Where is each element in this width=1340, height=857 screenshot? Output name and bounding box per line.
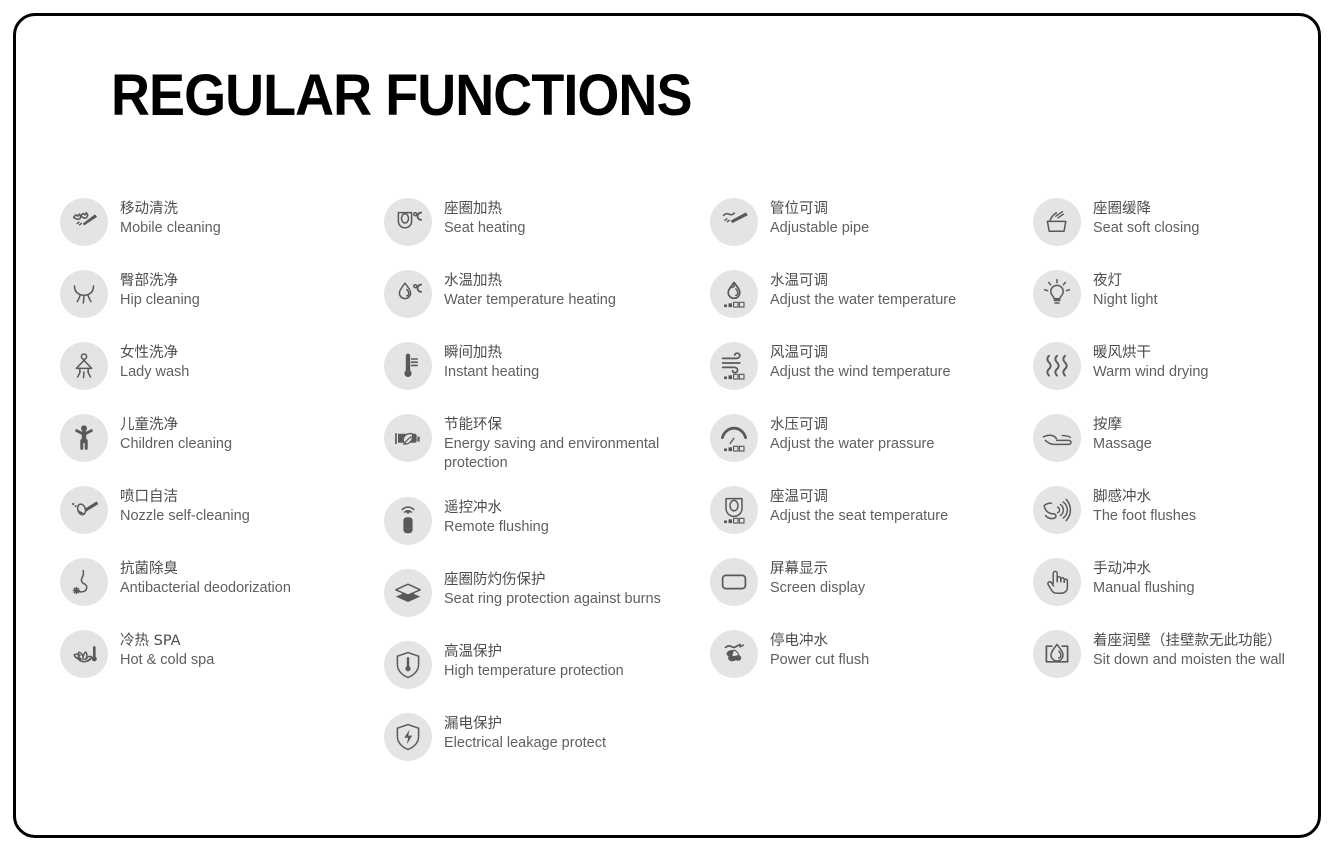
adjustable-pipe-icon: [710, 198, 758, 246]
function-name-en: Massage: [1093, 435, 1152, 454]
function-name-cn: 着座润壁（挂壁款无此功能）: [1093, 632, 1285, 651]
function-name-cn: 节能环保: [444, 416, 704, 435]
function-name-cn: 瞬间加热: [444, 344, 539, 363]
function-labels: 瞬间加热Instant heating: [444, 342, 539, 382]
function-name-en: Adjust the water temperature: [770, 291, 956, 310]
water-temperature-heating-icon: [384, 270, 432, 318]
function-name-cn: 手动冲水: [1093, 560, 1195, 579]
function-item: 座圈缓降Seat soft closing: [1033, 198, 1340, 246]
function-labels: 水温加热Water temperature heating: [444, 270, 616, 310]
nozzle-self-cleaning-icon: [60, 486, 108, 534]
function-item: 脚感冲水The foot flushes: [1033, 486, 1340, 534]
adjust-seat-temperature-icon: [710, 486, 758, 534]
antibacterial-deodorization-nose-icon: [60, 558, 108, 606]
power-cut-flush-icon: [710, 630, 758, 678]
seat-heating-icon: [384, 198, 432, 246]
screen-display-icon: [710, 558, 758, 606]
function-name-cn: 儿童洗净: [120, 416, 232, 435]
function-name-en: Energy saving and environmental protecti…: [444, 435, 704, 473]
function-item: 水温可调Adjust the water temperature: [710, 270, 1020, 318]
function-name-cn: 管位可调: [770, 200, 869, 219]
function-name-cn: 脚感冲水: [1093, 488, 1196, 507]
function-name-en: Lady wash: [120, 363, 189, 382]
instant-heating-thermometer-icon: [384, 342, 432, 390]
function-name-cn: 停电冲水: [770, 632, 869, 651]
function-item: 屏幕显示Screen display: [710, 558, 1020, 606]
function-name-cn: 座圈缓降: [1093, 200, 1199, 219]
lady-wash-icon: [60, 342, 108, 390]
function-labels: 水压可调Adjust the water prassure: [770, 414, 934, 454]
function-name-en: Adjust the wind temperature: [770, 363, 951, 382]
function-item: 冷热 SPAHot & cold spa: [60, 630, 370, 678]
functions-column-3: 座圈缓降Seat soft closing夜灯Night light暖风烘干Wa…: [1033, 198, 1340, 702]
function-name-en: Remote flushing: [444, 518, 549, 537]
function-labels: 高温保护High temperature protection: [444, 641, 624, 681]
function-name-en: Seat ring protection against burns: [444, 590, 661, 609]
function-name-cn: 水温加热: [444, 272, 616, 291]
function-name-en: Hip cleaning: [120, 291, 200, 310]
function-name-cn: 水压可调: [770, 416, 934, 435]
function-item: 座圈防灼伤保护Seat ring protection against burn…: [384, 569, 704, 617]
function-item: 夜灯Night light: [1033, 270, 1340, 318]
function-name-cn: 风温可调: [770, 344, 951, 363]
function-item: 着座润壁（挂壁款无此功能）Sit down and moisten the wa…: [1033, 630, 1340, 678]
function-item: 管位可调Adjustable pipe: [710, 198, 1020, 246]
massage-hand-icon: [1033, 414, 1081, 462]
function-name-en: Electrical leakage protect: [444, 734, 606, 753]
function-item: 风温可调Adjust the wind temperature: [710, 342, 1020, 390]
function-labels: 抗菌除臭Antibacterial deodorization: [120, 558, 291, 598]
function-item: 儿童洗净Children cleaning: [60, 414, 370, 462]
function-item: 停电冲水Power cut flush: [710, 630, 1020, 678]
mobile-cleaning-wand-icon: [60, 198, 108, 246]
function-item: 移动清洗Mobile cleaning: [60, 198, 370, 246]
function-labels: 风温可调Adjust the wind temperature: [770, 342, 951, 382]
function-item: 节能环保Energy saving and environmental prot…: [384, 414, 704, 473]
function-item: 抗菌除臭Antibacterial deodorization: [60, 558, 370, 606]
function-labels: 管位可调Adjustable pipe: [770, 198, 869, 238]
function-name-cn: 座圈防灼伤保护: [444, 571, 661, 590]
function-name-cn: 漏电保护: [444, 715, 606, 734]
function-name-en: Hot & cold spa: [120, 651, 214, 670]
function-name-en: Adjust the seat temperature: [770, 507, 948, 526]
adjust-water-temperature-icon: [710, 270, 758, 318]
function-labels: 女性洗净Lady wash: [120, 342, 189, 382]
function-name-cn: 座圈加热: [444, 200, 525, 219]
function-name-en: Manual flushing: [1093, 579, 1195, 598]
function-labels: 喷口自洁Nozzle self-cleaning: [120, 486, 250, 526]
manual-flushing-hand-icon: [1033, 558, 1081, 606]
function-name-en: Nozzle self-cleaning: [120, 507, 250, 526]
function-labels: 手动冲水Manual flushing: [1093, 558, 1195, 598]
functions-column-2: 管位可调Adjustable pipe水温可调Adjust the water …: [710, 198, 1020, 702]
energy-saving-battery-leaf-icon: [384, 414, 432, 462]
night-light-bulb-icon: [1033, 270, 1081, 318]
function-name-en: Instant heating: [444, 363, 539, 382]
function-name-cn: 座温可调: [770, 488, 948, 507]
function-item: 座圈加热Seat heating: [384, 198, 704, 246]
function-item: 喷口自洁Nozzle self-cleaning: [60, 486, 370, 534]
page-title: REGULAR FUNCTIONS: [111, 62, 692, 129]
function-name-en: Adjust the water prassure: [770, 435, 934, 454]
adjust-wind-temperature-icon: [710, 342, 758, 390]
function-item: 臀部洗净Hip cleaning: [60, 270, 370, 318]
foot-flush-icon: [1033, 486, 1081, 534]
function-name-en: Night light: [1093, 291, 1157, 310]
function-labels: 漏电保护Electrical leakage protect: [444, 713, 606, 753]
function-name-cn: 抗菌除臭: [120, 560, 291, 579]
functions-column-0: 移动清洗Mobile cleaning臀部洗净Hip cleaning女性洗净L…: [60, 198, 370, 702]
function-labels: 座圈加热Seat heating: [444, 198, 525, 238]
function-labels: 座温可调Adjust the seat temperature: [770, 486, 948, 526]
function-labels: 移动清洗Mobile cleaning: [120, 198, 221, 238]
function-labels: 停电冲水Power cut flush: [770, 630, 869, 670]
seat-ring-burn-protection-icon: [384, 569, 432, 617]
remote-flushing-icon: [384, 497, 432, 545]
function-name-cn: 冷热 SPA: [120, 632, 214, 651]
functions-column-1: 座圈加热Seat heating水温加热Water temperature he…: [384, 198, 704, 785]
hot-cold-spa-lotus-icon: [60, 630, 108, 678]
function-name-cn: 夜灯: [1093, 272, 1157, 291]
function-name-en: Seat soft closing: [1093, 219, 1199, 238]
seat-soft-closing-icon: [1033, 198, 1081, 246]
function-labels: 冷热 SPAHot & cold spa: [120, 630, 214, 670]
function-labels: 按摩Massage: [1093, 414, 1152, 454]
function-name-cn: 女性洗净: [120, 344, 189, 363]
function-labels: 遥控冲水Remote flushing: [444, 497, 549, 537]
function-labels: 臀部洗净Hip cleaning: [120, 270, 200, 310]
electrical-leakage-protect-shield-icon: [384, 713, 432, 761]
function-name-en: Adjustable pipe: [770, 219, 869, 238]
function-item: 水温加热Water temperature heating: [384, 270, 704, 318]
function-name-en: Seat heating: [444, 219, 525, 238]
function-name-cn: 喷口自洁: [120, 488, 250, 507]
function-labels: 座圈防灼伤保护Seat ring protection against burn…: [444, 569, 661, 609]
poster-frame: REGULAR FUNCTIONS 移动清洗Mobile cleaning臀部洗…: [13, 13, 1321, 838]
function-item: 座温可调Adjust the seat temperature: [710, 486, 1020, 534]
function-name-cn: 屏幕显示: [770, 560, 865, 579]
function-name-cn: 按摩: [1093, 416, 1152, 435]
children-cleaning-icon: [60, 414, 108, 462]
function-name-en: Sit down and moisten the wall: [1093, 651, 1285, 670]
function-name-en: Screen display: [770, 579, 865, 598]
function-labels: 儿童洗净Children cleaning: [120, 414, 232, 454]
high-temperature-protection-shield-icon: [384, 641, 432, 689]
function-name-en: Warm wind drying: [1093, 363, 1209, 382]
function-labels: 夜灯Night light: [1093, 270, 1157, 310]
function-name-en: Antibacterial deodorization: [120, 579, 291, 598]
function-labels: 座圈缓降Seat soft closing: [1093, 198, 1199, 238]
function-name-cn: 移动清洗: [120, 200, 221, 219]
function-name-en: Children cleaning: [120, 435, 232, 454]
function-name-cn: 臀部洗净: [120, 272, 200, 291]
function-name-en: Water temperature heating: [444, 291, 616, 310]
hip-cleaning-icon: [60, 270, 108, 318]
function-name-en: High temperature protection: [444, 662, 624, 681]
warm-wind-drying-icon: [1033, 342, 1081, 390]
function-name-cn: 遥控冲水: [444, 499, 549, 518]
function-item: 遥控冲水Remote flushing: [384, 497, 704, 545]
function-labels: 脚感冲水The foot flushes: [1093, 486, 1196, 526]
function-name-cn: 水温可调: [770, 272, 956, 291]
function-item: 女性洗净Lady wash: [60, 342, 370, 390]
function-name-cn: 暖风烘干: [1093, 344, 1209, 363]
function-labels: 暖风烘干Warm wind drying: [1093, 342, 1209, 382]
function-item: 手动冲水Manual flushing: [1033, 558, 1340, 606]
function-item: 漏电保护Electrical leakage protect: [384, 713, 704, 761]
function-name-en: The foot flushes: [1093, 507, 1196, 526]
sit-down-moisten-wall-icon: [1033, 630, 1081, 678]
function-item: 水压可调Adjust the water prassure: [710, 414, 1020, 462]
function-labels: 着座润壁（挂壁款无此功能）Sit down and moisten the wa…: [1093, 630, 1285, 670]
function-item: 瞬间加热Instant heating: [384, 342, 704, 390]
function-labels: 水温可调Adjust the water temperature: [770, 270, 956, 310]
function-name-cn: 高温保护: [444, 643, 624, 662]
function-name-en: Mobile cleaning: [120, 219, 221, 238]
function-item: 按摩Massage: [1033, 414, 1340, 462]
function-item: 暖风烘干Warm wind drying: [1033, 342, 1340, 390]
adjust-water-pressure-gauge-icon: [710, 414, 758, 462]
function-labels: 屏幕显示Screen display: [770, 558, 865, 598]
function-item: 高温保护High temperature protection: [384, 641, 704, 689]
function-name-en: Power cut flush: [770, 651, 869, 670]
function-labels: 节能环保Energy saving and environmental prot…: [444, 414, 704, 473]
